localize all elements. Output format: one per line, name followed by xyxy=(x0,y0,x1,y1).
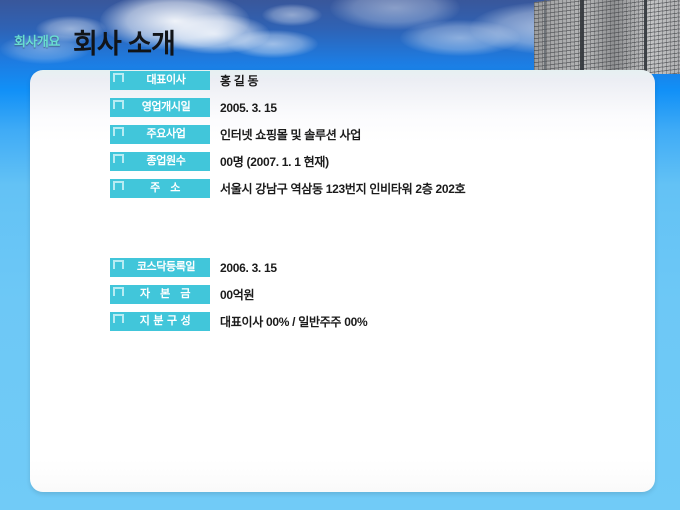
row-label: 자 본 금 xyxy=(126,289,194,300)
cloud-shape xyxy=(330,0,460,30)
row-value: 00억원 xyxy=(220,286,254,303)
cloud-shape xyxy=(228,30,318,58)
info-table: 대표이사 홍 길 동 영업개시일 2005. 3. 15 주요사업 인터넷 쇼핑… xyxy=(110,67,465,335)
row-value: 2005. 3. 15 xyxy=(220,101,277,115)
info-group-secondary: 코스닥등록일 2006. 3. 15 자 본 금 00억원 지분구성 대표이사 … xyxy=(110,254,465,335)
row-label-box: 코스닥등록일 xyxy=(110,258,210,277)
building-seam xyxy=(580,0,584,74)
table-row: 주 소 서울시 강남구 역삼동 123번지 인비타워 2층 202호 xyxy=(110,175,465,202)
row-label: 대표이사 xyxy=(135,75,186,86)
building-seam xyxy=(644,0,647,74)
slide-canvas: 회사개요 회사 소개 대표이사 홍 길 동 영업개시일 2005. 3. 15 xyxy=(0,0,680,510)
building-facade xyxy=(534,0,680,74)
table-row: 주요사업 인터넷 쇼핑몰 및 솔루션 사업 xyxy=(110,121,465,148)
row-label: 영업개시일 xyxy=(130,102,191,113)
row-label: 코스닥등록일 xyxy=(125,262,195,273)
corner-bracket-icon xyxy=(113,260,124,269)
row-value: 대표이사 00% / 일반주주 00% xyxy=(220,313,367,330)
slide-eyebrow: 회사개요 xyxy=(14,31,60,50)
row-label-box: 대표이사 xyxy=(110,71,210,90)
row-label-box: 주 소 xyxy=(110,179,210,198)
table-row: 영업개시일 2005. 3. 15 xyxy=(110,94,465,121)
page-title: 회사 소개 xyxy=(73,22,175,61)
row-label-box: 주요사업 xyxy=(110,125,210,144)
row-label-box: 종업원수 xyxy=(110,152,210,171)
cloud-shape xyxy=(400,20,520,56)
row-label-box: 자 본 금 xyxy=(110,285,210,304)
row-value: 홍 길 동 xyxy=(220,72,258,89)
building-seam xyxy=(544,0,546,74)
corner-bracket-icon xyxy=(113,127,124,136)
row-label: 주 소 xyxy=(136,183,184,194)
table-row: 종업원수 00명 (2007. 1. 1 현재) xyxy=(110,148,465,175)
row-label: 지분구성 xyxy=(126,316,194,327)
row-label: 종업원수 xyxy=(135,156,186,167)
corner-bracket-icon xyxy=(113,100,124,109)
row-value: 서울시 강남구 역삼동 123번지 인비타워 2층 202호 xyxy=(220,180,465,197)
table-row: 대표이사 홍 길 동 xyxy=(110,67,465,94)
table-row: 코스닥등록일 2006. 3. 15 xyxy=(110,254,465,281)
corner-bracket-icon xyxy=(113,287,124,296)
row-label: 주요사업 xyxy=(135,129,186,140)
table-row: 자 본 금 00억원 xyxy=(110,281,465,308)
cloud-shape xyxy=(262,4,322,26)
corner-bracket-icon xyxy=(113,314,124,323)
corner-bracket-icon xyxy=(113,73,124,82)
skyscraper-image xyxy=(520,0,680,74)
cloud-shape xyxy=(160,14,270,54)
row-value: 2006. 3. 15 xyxy=(220,261,277,275)
corner-bracket-icon xyxy=(113,181,124,190)
row-label-box: 영업개시일 xyxy=(110,98,210,117)
info-group-primary: 대표이사 홍 길 동 영업개시일 2005. 3. 15 주요사업 인터넷 쇼핑… xyxy=(110,67,465,202)
table-row: 지분구성 대표이사 00% / 일반주주 00% xyxy=(110,308,465,335)
row-value: 인터넷 쇼핑몰 및 솔루션 사업 xyxy=(220,126,361,143)
row-value: 00명 (2007. 1. 1 현재) xyxy=(220,153,329,170)
row-label-box: 지분구성 xyxy=(110,312,210,331)
corner-bracket-icon xyxy=(113,154,124,163)
